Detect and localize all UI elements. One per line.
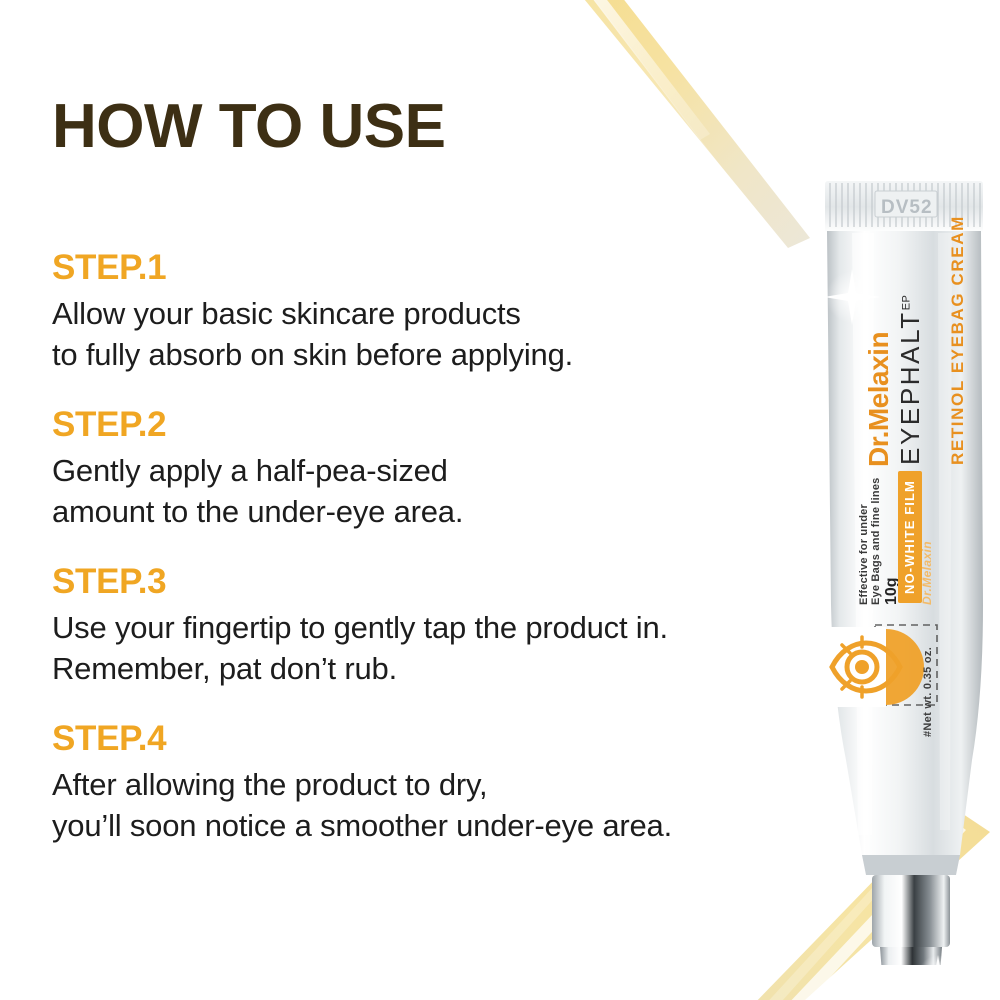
step-item-2: STEP.2 Gently apply a half-pea-sized amo…	[52, 405, 842, 533]
step-body-4-line-1: After allowing the product to dry,	[52, 765, 842, 806]
step-label-1: STEP.1	[52, 248, 842, 287]
step-item-3: STEP.3 Use your fingertip to gently tap …	[52, 562, 842, 690]
step-body-3-line-1: Use your fingertip to gently tap the pro…	[52, 608, 842, 649]
product-tube-image: DV52 Dr.Melaxin EYEPHALTEP RETINOL EYEBA…	[800, 175, 1000, 965]
no-white-film-badge: NO-WHITE FILM	[898, 471, 922, 603]
step-body-4: After allowing the product to dry, you’l…	[52, 765, 842, 847]
steps-list: STEP.1 Allow your basic skincare product…	[52, 248, 842, 847]
step-body-4-line-2: you’ll soon notice a smoother under-eye …	[52, 806, 842, 847]
step-body-2: Gently apply a half-pea-sized amount to …	[52, 451, 842, 533]
step-label-4: STEP.4	[52, 719, 842, 758]
eye-icon	[828, 627, 924, 707]
step-body-1-line-2: to fully absorb on skin before applying.	[52, 335, 842, 376]
step-body-3: Use your fingertip to gently tap the pro…	[52, 608, 842, 690]
step-label-2: STEP.2	[52, 405, 842, 444]
step-body-3-line-2: Remember, pat don’t rub.	[52, 649, 842, 690]
page-title: HOW TO USE	[52, 96, 445, 158]
step-body-1-line-1: Allow your basic skincare products	[52, 294, 842, 335]
step-label-3: STEP.3	[52, 562, 842, 601]
step-body-2-line-2: amount to the under-eye area.	[52, 492, 842, 533]
step-item-4: STEP.4 After allowing the product to dry…	[52, 719, 842, 847]
step-body-2-line-1: Gently apply a half-pea-sized	[52, 451, 842, 492]
step-body-1: Allow your basic skincare products to fu…	[52, 294, 842, 376]
how-to-use-graphic: HOW TO USE STEP.1 Allow your basic skinc…	[0, 0, 1000, 1000]
step-item-1: STEP.1 Allow your basic skincare product…	[52, 248, 842, 376]
